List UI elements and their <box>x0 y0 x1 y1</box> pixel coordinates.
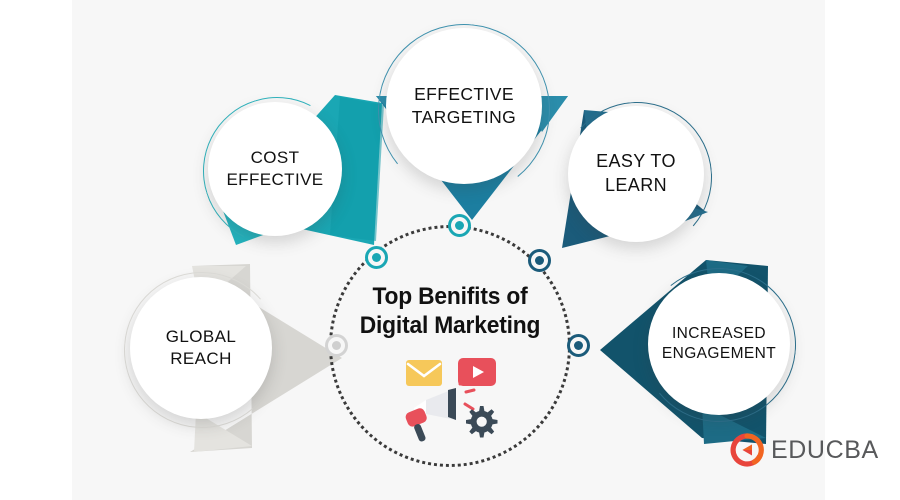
benefit-easy-to-learn[interactable]: EASY TO LEARN <box>568 106 704 242</box>
megaphone-icon <box>404 384 466 444</box>
benefit-label-easy-to-learn: EASY TO LEARN <box>590 150 682 198</box>
benefit-global-reach[interactable]: GLOBAL REACH <box>130 277 272 419</box>
educba-wordmark: EDUCBA <box>771 436 879 465</box>
gear-icon <box>462 404 498 440</box>
video-play-icon <box>458 358 496 386</box>
benefit-increased-engagement[interactable]: INCREASED ENGAGEMENT <box>648 273 790 415</box>
benefit-label-increased-engagement: INCREASED ENGAGEMENT <box>656 324 782 365</box>
center-icon-cluster <box>400 358 510 446</box>
educba-logo[interactable]: EDUCBA <box>730 433 879 467</box>
email-icon <box>406 360 442 386</box>
benefit-effective-targeting[interactable]: EFFECTIVE TARGETING <box>386 28 542 184</box>
page-title: Top Benifits of Digital Marketing <box>355 283 545 341</box>
marker-upper-right <box>528 249 551 272</box>
marker-upper-left <box>365 246 388 269</box>
marker-left <box>325 334 348 357</box>
benefit-cost-effective[interactable]: COST EFFECTIVE <box>208 102 342 236</box>
benefit-label-cost-effective: COST EFFECTIVE <box>220 147 329 192</box>
marker-top <box>448 214 471 237</box>
benefit-label-global-reach: GLOBAL REACH <box>160 326 242 371</box>
infographic-canvas: COST EFFECTIVE EFFECTIVE TARGETING EASY … <box>0 0 900 500</box>
marker-right <box>567 334 590 357</box>
educba-logo-icon <box>730 433 764 467</box>
benefit-label-effective-targeting: EFFECTIVE TARGETING <box>406 83 522 129</box>
